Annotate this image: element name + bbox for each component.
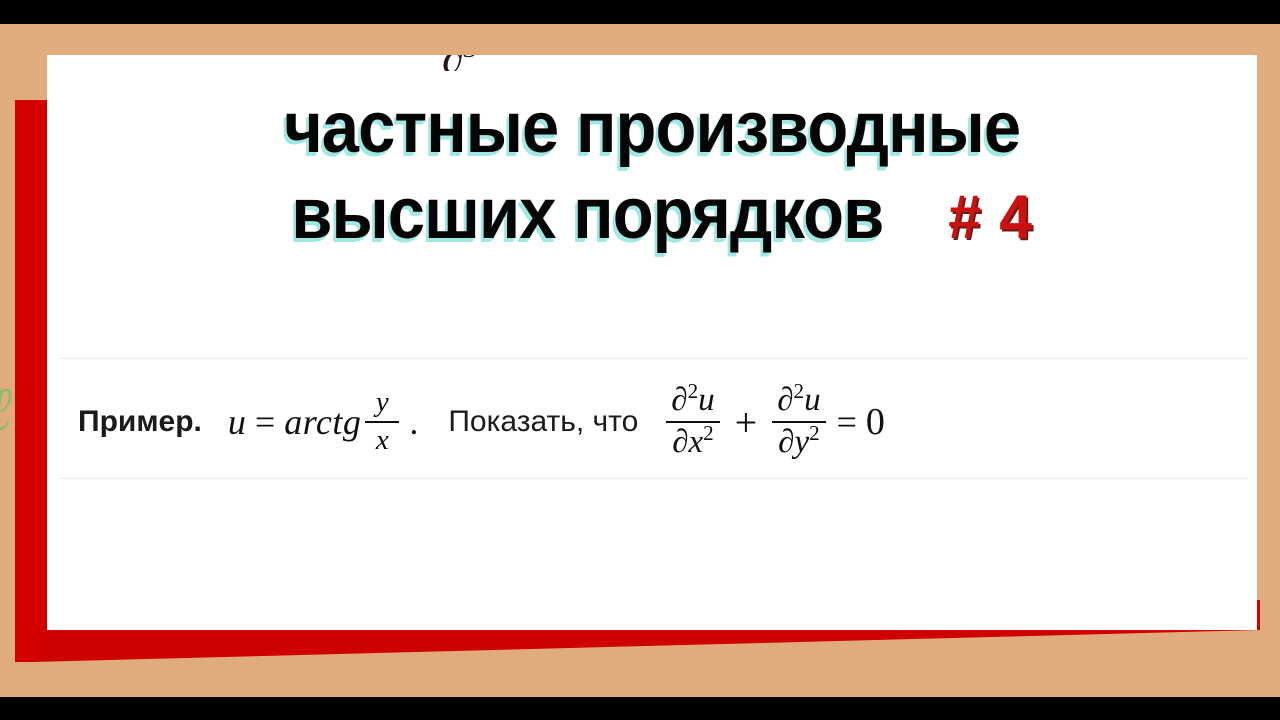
fraction-denominator: x [371,426,394,456]
fraction-numerator: y [371,388,394,418]
example-formula-row: Пример. u = arctg y x . Показать, что ∂2… [78,370,1248,474]
page-title-line-2: высших порядков [291,171,883,257]
second-derivative-wrt-x: ∂2u ∂x2 [666,384,719,459]
content-card: ∂3 частные производные высших порядков #… [47,55,1257,630]
term2-denominator-order: 2 [809,421,820,445]
title-row-secondary: высших порядков # 4 [47,171,1257,257]
period-punctuation: . [409,401,418,443]
term1-numerator: ∂2u [666,384,719,418]
divider-top [58,358,1248,359]
function-definition-expression: u = arctg y x . [228,388,418,455]
title-block: частные производные высших порядков # 4 [47,85,1257,257]
term1-denominator: ∂x2 [667,426,719,460]
letterbox-bar-top [0,0,1280,24]
second-derivative-wrt-y: ∂2u ∂y2 [772,384,825,459]
term1-numerator-order: 2 [688,379,699,403]
partial-symbol: ∂ [442,55,464,71]
partial-symbol: ∂ [777,382,793,418]
instruction-text: Показать, что [448,405,638,439]
page-title-line-1: частные производные [89,85,1214,171]
example-label: Пример. [78,405,202,439]
term2-numerator-var: u [804,382,821,418]
letterbox-bar-bottom [0,697,1280,720]
term1-denominator-var: x [689,424,704,460]
term1-numerator-var: u [698,382,715,418]
partial-order: 3 [464,55,478,63]
result-equals-sign: = [837,401,857,443]
partial-derivative-decoration-icon: ∂3 [442,55,532,71]
term2-denominator-var: y [794,424,809,460]
term1-denominator-order: 2 [703,421,714,445]
fraction-bar [365,421,399,423]
equals-sign: = [255,401,275,443]
term2-numerator-order: 2 [794,379,805,403]
term2-numerator: ∂2u [772,384,825,418]
function-name: arctg [284,401,361,443]
partial-symbol: ∂ [672,424,688,460]
partial-symbol: ∂ [778,424,794,460]
result-value: 0 [866,400,885,444]
partial-symbol: ∂ [671,382,687,418]
pde-equation: ∂2u ∂x2 + ∂2u ∂y2 = 0 [664,384,885,459]
status-badge: # 4 [948,182,1033,254]
fraction-y-over-x: y x [365,388,399,455]
term2-denominator: ∂y2 [773,426,825,460]
slide-canvas: ℓ ∂3 частные производные высших порядков… [0,0,1280,720]
divider-bottom [58,478,1248,479]
function-lhs: u [228,401,246,443]
plus-sign: + [735,399,758,446]
